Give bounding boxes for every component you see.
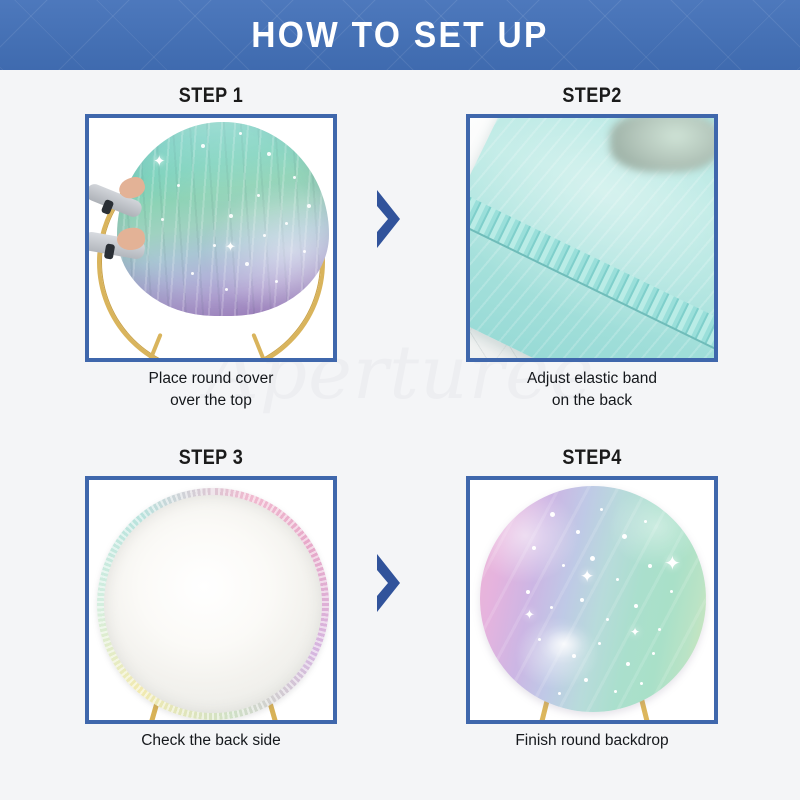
step-2-title: STEP2 — [484, 84, 701, 108]
sparkle-icon: ✦ — [630, 626, 640, 638]
backdrop-back-disc — [97, 488, 329, 720]
step-2-caption-line-1: Adjust elastic band — [466, 368, 718, 390]
step-2-caption: Adjust elastic band on the back — [466, 368, 718, 412]
step-2-illustration — [470, 118, 714, 358]
step-1-illustration: ✦ ✦ ✦ — [89, 118, 333, 358]
background-blur — [610, 118, 714, 172]
step-1-caption-line-1: Place round cover — [85, 368, 337, 390]
backdrop-back-panel — [104, 495, 322, 713]
step-4-title: STEP4 — [484, 446, 701, 470]
chevron-right-icon — [372, 188, 406, 250]
step-1-caption: Place round cover over the top — [85, 368, 337, 412]
cover-highlights — [117, 122, 329, 316]
sparkle-icon: ✦ — [153, 154, 166, 169]
step-1-image-frame: ✦ ✦ ✦ — [85, 114, 337, 362]
chevron-right-icon — [372, 552, 406, 614]
step-1-title: STEP 1 — [103, 84, 320, 108]
step-4-caption-line-1: Finish round backdrop — [466, 730, 718, 752]
finished-backdrop-disc: ✦ ✦ ✦ ✦ — [480, 486, 706, 712]
soft-glow — [480, 486, 706, 712]
sparkle-icon: ✦ — [580, 568, 594, 585]
step-3-caption: Check the back side — [85, 730, 337, 752]
sparkle-icon: ✦ — [664, 554, 681, 574]
step-3-illustration — [89, 480, 333, 720]
lens-halo — [538, 624, 590, 664]
step-4-caption: Finish round backdrop — [466, 730, 718, 752]
sparkle-icon: ✦ — [524, 608, 535, 621]
gradient-cover: ✦ ✦ ✦ — [117, 122, 329, 316]
step-2-image-frame — [466, 114, 718, 362]
step-2-caption-line-2: on the back — [466, 390, 718, 412]
step-4-illustration: ✦ ✦ ✦ ✦ — [470, 480, 714, 720]
step-4-image-frame: ✦ ✦ ✦ ✦ — [466, 476, 718, 724]
step-3-image-frame — [85, 476, 337, 724]
page-title: HOW TO SET UP — [28, 0, 772, 70]
step-1-caption-line-2: over the top — [85, 390, 337, 412]
step-3-caption-line-1: Check the back side — [85, 730, 337, 752]
step-3-title: STEP 3 — [103, 446, 320, 470]
sparkle-icon: ✦ — [225, 240, 236, 253]
